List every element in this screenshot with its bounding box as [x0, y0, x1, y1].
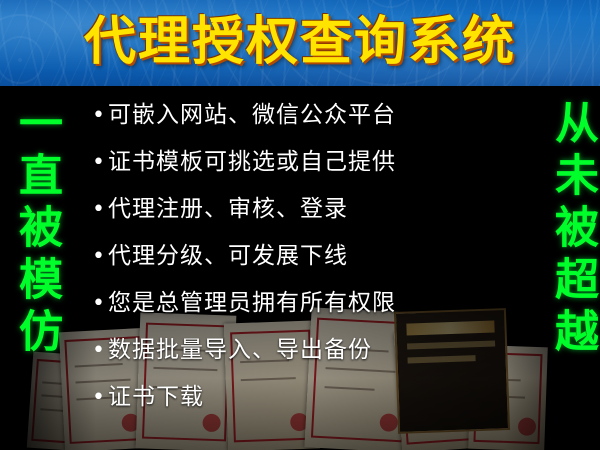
list-item: • 证书下载 [92, 382, 512, 429]
banner: 代理授权查询系统 [0, 0, 600, 86]
bullet-icon: • [92, 387, 108, 409]
list-item: • 代理分级、可发展下线 [92, 241, 512, 288]
slogan-right: 从未被超越 [540, 100, 598, 360]
feature-label: 数据批量导入、导出备份 [108, 335, 372, 365]
list-item: • 您是总管理员拥有所有权限 [92, 288, 512, 335]
feature-label: 证书模板可挑选或自己提供 [108, 147, 396, 177]
feature-label: 代理注册、审核、登录 [108, 194, 348, 224]
feature-label: 您是总管理员拥有所有权限 [108, 288, 396, 318]
list-item: • 代理注册、审核、登录 [92, 194, 512, 241]
bullet-icon: • [92, 105, 108, 127]
list-item: • 数据批量导入、导出备份 [92, 335, 512, 382]
list-item: • 证书模板可挑选或自己提供 [92, 147, 512, 194]
feature-label: 可嵌入网站、微信公众平台 [108, 100, 396, 130]
promo-image: 代理授权查询系统 [0, 0, 600, 450]
bullet-icon: • [92, 199, 108, 221]
feature-label: 证书下载 [108, 382, 204, 412]
banner-title: 代理授权查询系统 [0, 10, 600, 74]
bullet-icon: • [92, 246, 108, 268]
content-area: 一直被模仿 从未被超越 • 可嵌入网站、微信公众平台 • 证书模板可挑选或自己提… [0, 86, 600, 450]
feature-label: 代理分级、可发展下线 [108, 241, 348, 271]
bullet-icon: • [92, 340, 108, 362]
bullet-icon: • [92, 293, 108, 315]
list-item: • 可嵌入网站、微信公众平台 [92, 100, 512, 147]
bullet-icon: • [92, 152, 108, 174]
slogan-left: 一直被模仿 [4, 100, 62, 360]
feature-list: • 可嵌入网站、微信公众平台 • 证书模板可挑选或自己提供 • 代理注册、审核、… [92, 100, 512, 429]
